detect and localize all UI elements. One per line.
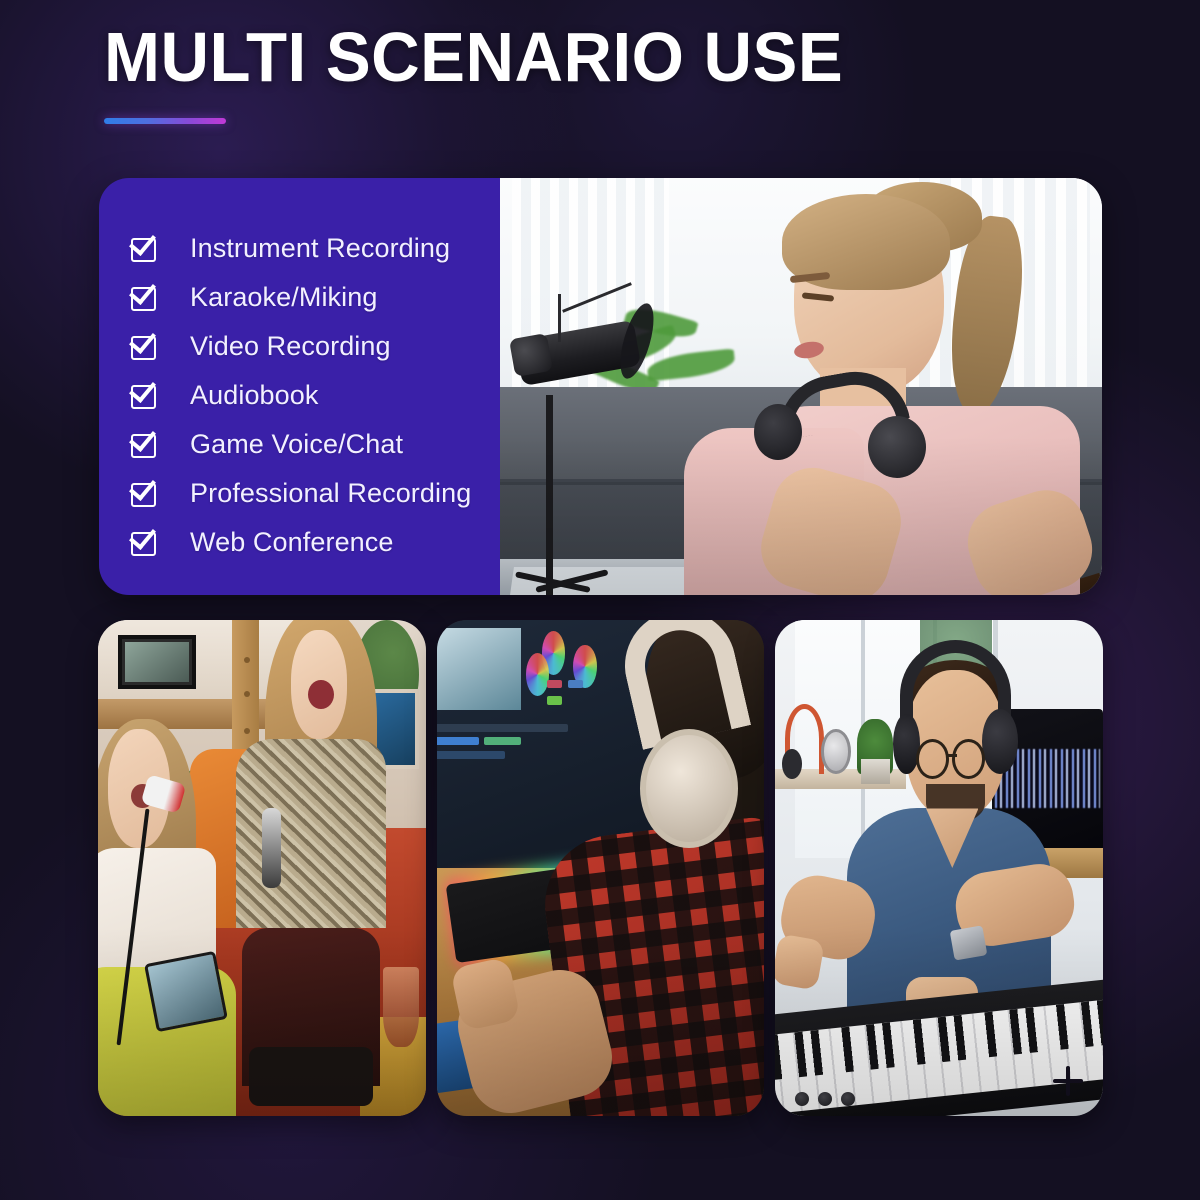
list-item-label: Web Conference: [190, 529, 394, 556]
list-item-label: Audiobook: [190, 382, 319, 409]
list-item-label: Game Voice/Chat: [190, 431, 403, 458]
sparkle-icon: [1053, 1066, 1083, 1096]
page-header: MULTI SCENARIO USE: [104, 22, 874, 124]
checkbox-checked-icon[interactable]: [131, 529, 158, 556]
list-item[interactable]: Video Recording: [131, 322, 500, 371]
list-item[interactable]: Web Conference: [131, 518, 500, 567]
checkbox-checked-icon[interactable]: [131, 235, 158, 262]
checkbox-checked-icon[interactable]: [131, 382, 158, 409]
list-item[interactable]: Professional Recording: [131, 469, 500, 518]
checklist-panel: Instrument Recording Karaoke/Miking Vide…: [99, 178, 500, 595]
photo-karaoke-miking: [98, 620, 426, 1116]
list-item[interactable]: Instrument Recording: [131, 224, 500, 273]
list-item-label: Karaoke/Miking: [190, 284, 378, 311]
page-title: MULTI SCENARIO USE: [104, 22, 843, 92]
list-item-label: Video Recording: [190, 333, 391, 360]
list-item-label: Instrument Recording: [190, 235, 450, 262]
list-item[interactable]: Audiobook: [131, 371, 500, 420]
list-item[interactable]: Game Voice/Chat: [131, 420, 500, 469]
checkbox-checked-icon[interactable]: [131, 480, 158, 507]
list-item-label: Professional Recording: [190, 480, 471, 507]
scenario-photo-row: [98, 620, 1103, 1116]
title-accent-rule: [104, 118, 226, 124]
hero-photo-instrument-recording: [500, 178, 1102, 595]
hero-card: Instrument Recording Karaoke/Miking Vide…: [99, 178, 1102, 595]
photo-video-recording: [437, 620, 765, 1116]
photo-professional-recording: [775, 620, 1103, 1116]
checkbox-checked-icon[interactable]: [131, 431, 158, 458]
checkbox-checked-icon[interactable]: [131, 333, 158, 360]
checkbox-checked-icon[interactable]: [131, 284, 158, 311]
list-item[interactable]: Karaoke/Miking: [131, 273, 500, 322]
